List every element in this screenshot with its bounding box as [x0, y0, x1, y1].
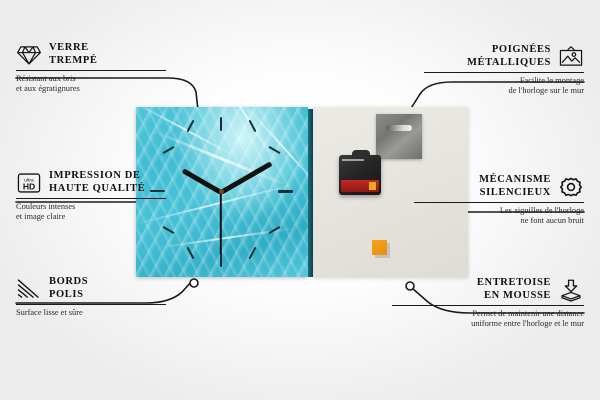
feature-sub-line1: Permet de maintenir une distance [392, 309, 584, 319]
clock-tick [162, 146, 174, 154]
feature-rule [16, 70, 166, 71]
feature-rule [16, 304, 166, 305]
clock-tick [220, 117, 222, 131]
feature-entretoise-en-mousse: ENTRETOISE EN MOUSSE Permet de maintenir… [392, 277, 584, 330]
foam-spacer [372, 240, 387, 255]
feature-title-line2: POLIS [49, 289, 88, 302]
feature-poignees-metalliques: POIGNÉES MÉTALLIQUES Facilite le montage… [424, 44, 584, 97]
clock-hour-hand [182, 168, 223, 194]
feature-title-line1: VERRE [49, 42, 98, 55]
clock-center-cap [219, 189, 224, 194]
gear-icon [558, 175, 584, 199]
feature-title-line2: HAUTE QUALITÉ [49, 183, 145, 196]
hanger-keyhole-slot [386, 125, 412, 131]
feature-impression-haute-qualite: ultra HD IMPRESSION DE HAUTE QUALITÉ Cou… [16, 170, 166, 223]
feature-sub-line1: Couleurs intenses [16, 202, 166, 212]
clock-second-hand [220, 192, 222, 254]
feature-rule [424, 72, 584, 73]
feature-title-line1: MÉCANISME [479, 174, 551, 187]
feature-rule [414, 202, 584, 203]
feature-rule [392, 305, 584, 306]
feature-title-line2: EN MOUSSE [477, 290, 551, 303]
feature-sub-line1: Résistant aux bris [16, 74, 166, 84]
infographic-canvas: VERRE TREMPÉ Résistant aux bris et aux é… [0, 0, 600, 400]
feature-title-line2: TREMPÉ [49, 55, 98, 68]
picture-frame-hanger-icon [558, 45, 584, 69]
feature-title-line1: BORDS [49, 276, 88, 289]
feature-sub-line2: uniforme entre l'horloge et le mur [392, 319, 584, 329]
connector-dot-bords [190, 279, 198, 287]
diagonal-stripes-icon [16, 277, 42, 301]
feature-sub-line2: et image claire [16, 212, 166, 222]
feature-bords-polis: BORDS POLIS Surface lisse et sûre [16, 276, 166, 318]
metal-hanger-plate [376, 114, 422, 159]
clock-movement [339, 155, 381, 195]
feature-sub-line1: Surface lisse et sûre [16, 308, 166, 318]
foam-spacer-arrow-icon [558, 278, 584, 302]
clock-tick [220, 253, 222, 267]
diamond-icon [16, 43, 42, 67]
feature-title-line2: MÉTALLIQUES [467, 57, 551, 70]
feature-title-line2: SILENCIEUX [479, 187, 551, 200]
ultra-hd-main-label: HD [23, 181, 35, 191]
feature-rule [16, 198, 166, 199]
feature-title-line1: ENTRETOISE [477, 277, 551, 290]
battery-terminal [369, 182, 376, 190]
feature-sub-line2: ne font aucun bruit [414, 216, 584, 226]
feature-sub-line1: Facilite le montage [424, 76, 584, 86]
feature-sub-line1: Les aiguilles de l'horloge [414, 206, 584, 216]
feature-sub-line2: de l'horloge sur le mur [424, 86, 584, 96]
feature-title-line1: POIGNÉES [467, 44, 551, 57]
feature-title-line1: IMPRESSION DE [49, 170, 145, 183]
battery-label [341, 180, 379, 192]
movement-hook [352, 150, 370, 158]
movement-marking [342, 159, 364, 161]
ultra-hd-icon: ultra HD [16, 171, 42, 195]
clock-tick [249, 120, 257, 132]
feature-verre-trempe: VERRE TREMPÉ Résistant aux bris et aux é… [16, 42, 166, 95]
clock-tick [278, 190, 293, 193]
feature-sub-line2: et aux égratignures [16, 84, 166, 94]
clock-tick [249, 247, 257, 259]
feature-mecanisme-silencieux: MÉCANISME SILENCIEUX Les aiguilles de l'… [414, 174, 584, 227]
clock-tick [162, 226, 174, 234]
clock-tick [187, 247, 195, 259]
